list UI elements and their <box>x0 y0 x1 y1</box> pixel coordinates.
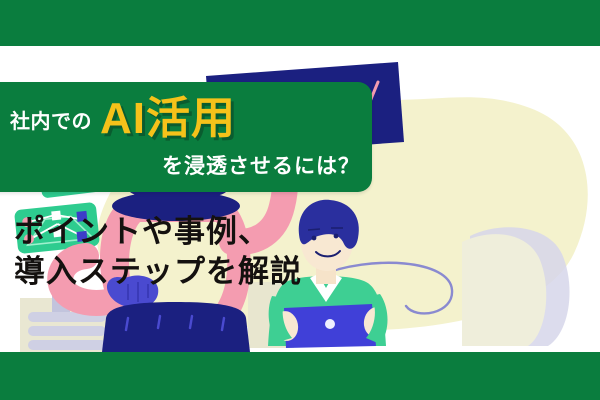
title-line-primary: 社内での AI活用 <box>10 96 372 142</box>
banner-image: 社内での AI活用 を浸透させるには？ ポイントや事例、 導入ステップを解説 <box>0 0 600 400</box>
bottom-green-band <box>0 352 600 400</box>
top-green-band <box>0 0 600 46</box>
title-kicker: 社内での <box>10 105 92 134</box>
title-highlight: AI活用 <box>100 97 236 141</box>
title-line-secondary: を浸透させるには？ <box>10 150 372 180</box>
headline-row-1: ポイントや事例、 <box>14 212 344 252</box>
headline-row-2: 導入ステップを解説 <box>14 252 344 292</box>
headline-block: ポイントや事例、 導入ステップを解説 <box>14 212 344 293</box>
person-backdrop-light <box>462 234 546 346</box>
title-subline: を浸透させるには？ <box>162 155 360 178</box>
tablet-camera-dot <box>325 319 335 329</box>
robot-base-keyboard <box>102 302 250 352</box>
